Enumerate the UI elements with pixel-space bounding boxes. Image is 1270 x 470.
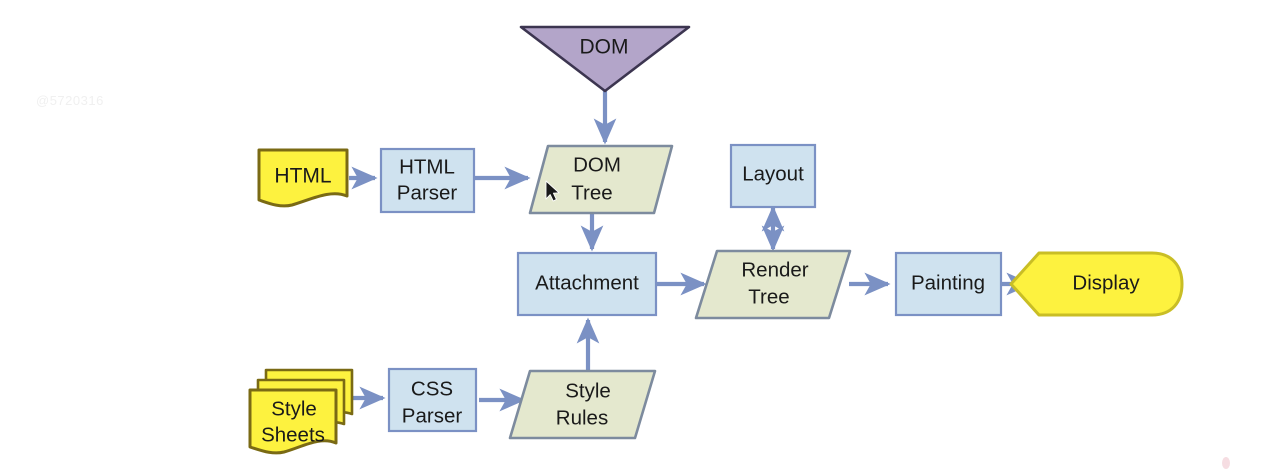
attachment-label: Attachment: [535, 271, 639, 294]
node-painting[interactable]: Painting: [896, 253, 1001, 315]
corner-artifact: [1222, 457, 1230, 469]
node-display[interactable]: Display: [1011, 253, 1182, 315]
css-parser-label-line2: Parser: [402, 404, 463, 427]
html-parser-label-line1: HTML: [399, 155, 455, 178]
browser-rendering-flowchart: @5720316: [0, 0, 1270, 470]
node-render-tree[interactable]: Render Tree: [696, 251, 850, 318]
dom-tree-label-line2: Tree: [571, 181, 612, 204]
dom-label: DOM: [580, 36, 629, 59]
style-sheets-label-line2: Sheets: [261, 423, 325, 446]
node-style-sheets[interactable]: Style Sheets: [250, 370, 352, 453]
style-rules-label-line2: Rules: [556, 406, 608, 429]
node-style-rules[interactable]: Style Rules: [510, 371, 655, 438]
html-parser-label-line2: Parser: [397, 181, 458, 204]
painting-label: Painting: [911, 271, 985, 294]
node-attachment[interactable]: Attachment: [518, 253, 656, 315]
dom-tree-label-line1: DOM: [573, 153, 621, 176]
style-sheets-label-line1: Style: [271, 397, 317, 420]
display-label: Display: [1072, 271, 1140, 294]
css-parser-label-line1: CSS: [411, 377, 453, 400]
html-label: HTML: [274, 165, 331, 188]
render-tree-label-line1: Render: [741, 258, 808, 281]
node-css-parser[interactable]: CSS Parser: [389, 369, 476, 431]
node-layout[interactable]: Layout: [731, 145, 815, 207]
node-dom-tree[interactable]: DOM Tree: [530, 146, 672, 213]
node-dom[interactable]: DOM: [521, 27, 689, 91]
layout-label: Layout: [742, 162, 804, 185]
render-tree-label-line2: Tree: [748, 285, 789, 308]
diagram-canvas: @5720316: [0, 0, 1270, 470]
watermark-label: @5720316: [36, 93, 104, 108]
node-html[interactable]: HTML: [259, 150, 347, 206]
edge-layer: [349, 90, 1030, 400]
style-rules-label-line1: Style: [565, 379, 611, 402]
node-html-parser[interactable]: HTML Parser: [381, 149, 474, 212]
